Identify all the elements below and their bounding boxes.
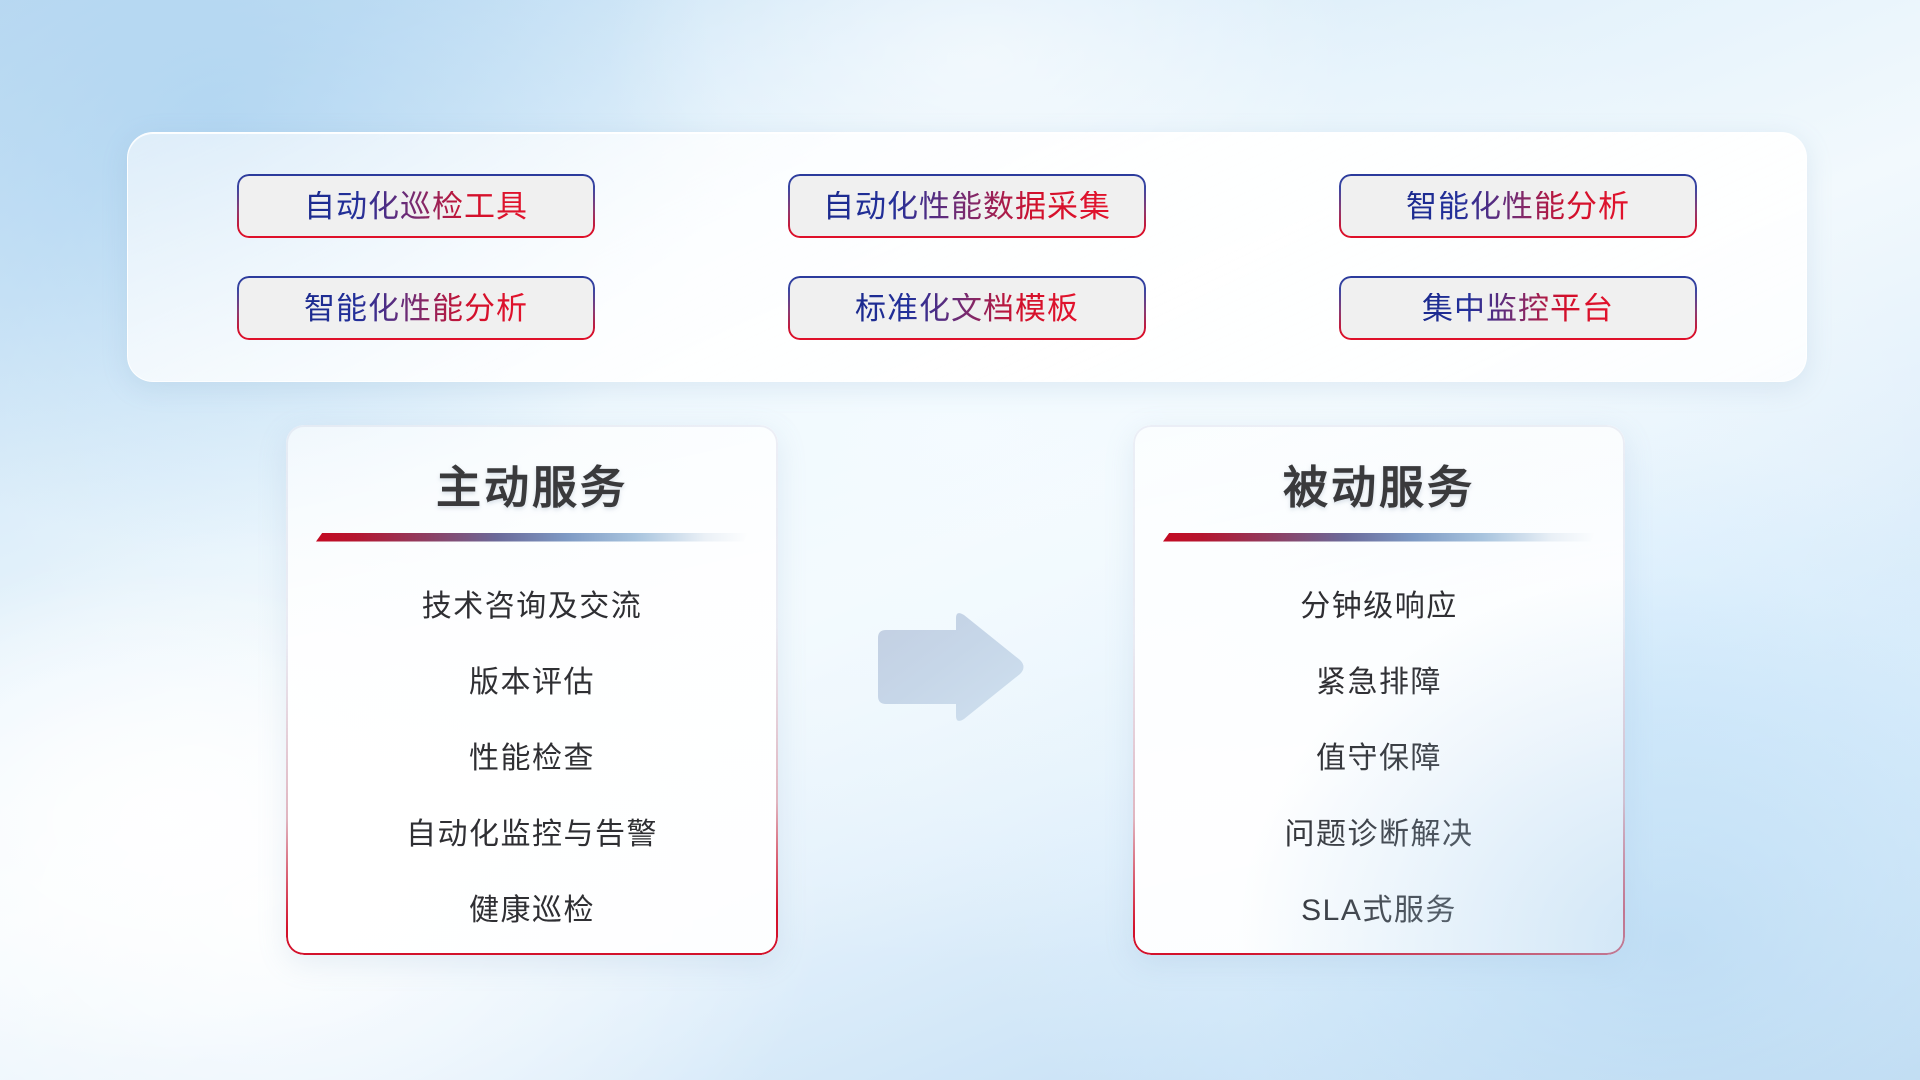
service-card-active: 主动服务 技术咨询及交流 版本评估 性能检查 自动化监控与告警 健康巡检 (286, 425, 778, 955)
list-item: 值守保障 (1133, 730, 1625, 788)
tag-button-6[interactable]: 集中监控平台 (1339, 276, 1697, 340)
tag-label-5: 标准化文档模板 (855, 293, 1079, 324)
tag-label-1: 自动化巡检工具 (304, 191, 528, 222)
tag-label-2: 自动化性能数据采集 (823, 191, 1111, 222)
capability-tag-grid: 自动化巡检工具 自动化性能数据采集 智能化性能分析 智能化性能分析 标准化文档模… (237, 174, 1697, 340)
service-card-passive-title: 被动服务 (1133, 463, 1625, 513)
tag-label-6: 集中监控平台 (1422, 293, 1614, 324)
slide-canvas: 自动化巡检工具 自动化性能数据采集 智能化性能分析 智能化性能分析 标准化文档模… (0, 0, 1920, 1080)
list-item: 健康巡检 (286, 882, 778, 940)
service-card-active-list: 技术咨询及交流 版本评估 性能检查 自动化监控与告警 健康巡检 (286, 578, 778, 940)
tag-label-4: 智能化性能分析 (304, 293, 528, 324)
tag-button-4[interactable]: 智能化性能分析 (237, 276, 595, 340)
tag-label-3: 智能化性能分析 (1406, 191, 1630, 222)
service-card-active-title: 主动服务 (286, 463, 778, 513)
tag-button-5[interactable]: 标准化文档模板 (788, 276, 1146, 340)
arrow-right-icon (868, 610, 1028, 725)
tag-button-3[interactable]: 智能化性能分析 (1339, 174, 1697, 238)
capability-tag-panel: 自动化巡检工具 自动化性能数据采集 智能化性能分析 智能化性能分析 标准化文档模… (127, 132, 1807, 382)
service-card-passive-list: 分钟级响应 紧急排障 值守保障 问题诊断解决 SLA式服务 (1133, 578, 1625, 940)
tag-button-2[interactable]: 自动化性能数据采集 (788, 174, 1146, 238)
service-card-active-divider (316, 533, 748, 542)
list-item: 技术咨询及交流 (286, 578, 778, 636)
list-item: 分钟级响应 (1133, 578, 1625, 636)
list-item: SLA式服务 (1133, 882, 1625, 940)
list-item: 版本评估 (286, 654, 778, 712)
service-card-passive: 被动服务 分钟级响应 紧急排障 值守保障 问题诊断解决 SLA式服务 (1133, 425, 1625, 955)
list-item: 紧急排障 (1133, 654, 1625, 712)
list-item: 性能检查 (286, 730, 778, 788)
tag-button-1[interactable]: 自动化巡检工具 (237, 174, 595, 238)
list-item: 自动化监控与告警 (286, 806, 778, 864)
service-card-passive-divider (1163, 533, 1595, 542)
list-item: 问题诊断解决 (1133, 806, 1625, 864)
